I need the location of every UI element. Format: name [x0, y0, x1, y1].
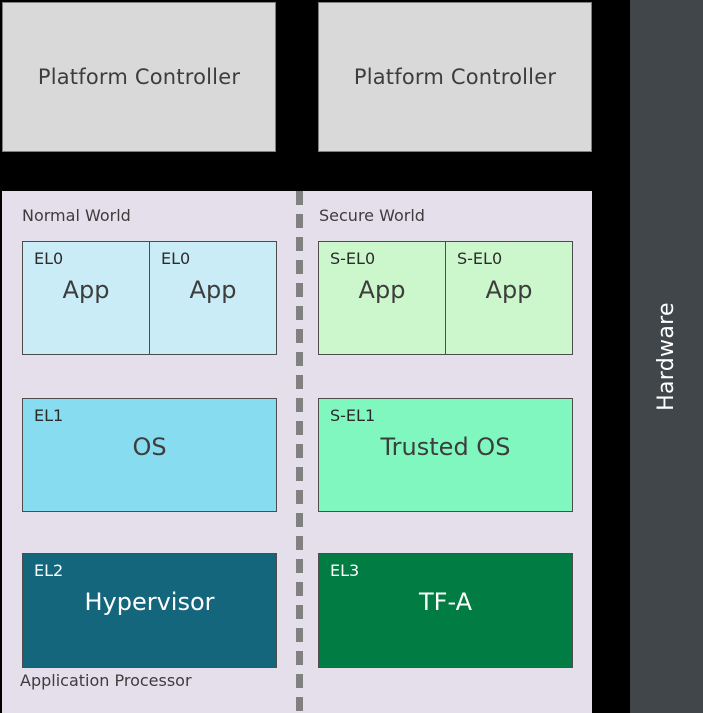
el-title: Hypervisor — [23, 588, 276, 616]
el-title: App — [23, 276, 149, 304]
el-box-el1-os: EL1 OS — [22, 398, 277, 512]
el-box-el3-tfa: EL3 TF-A — [318, 553, 573, 668]
el-title: TF-A — [319, 588, 572, 616]
el-title: App — [319, 276, 445, 304]
hardware-label: Hardware — [654, 302, 679, 411]
el-tag: EL0 — [161, 249, 190, 268]
platform-controller-box-2: Platform Controller — [318, 2, 592, 152]
el-title: App — [446, 276, 572, 304]
el-tag: EL3 — [330, 561, 359, 580]
el-tag: S-EL1 — [330, 406, 375, 425]
el-tag: EL1 — [34, 406, 63, 425]
el-box-sel0-app-secure-1: S-EL0 App — [318, 241, 446, 355]
el-box-el0-app-normal-1: EL0 App — [22, 241, 150, 355]
normal-world-label: Normal World — [22, 206, 131, 225]
application-processor-label: Application Processor — [20, 671, 192, 690]
el-tag: S-EL0 — [457, 249, 502, 268]
el-box-el2-hypervisor: EL2 Hypervisor — [22, 553, 277, 668]
el-title: OS — [23, 433, 276, 461]
el-tag: S-EL0 — [330, 249, 375, 268]
el-title: App — [150, 276, 276, 304]
el-box-el0-app-normal-2: EL0 App — [149, 241, 277, 355]
hardware-bar: Hardware — [630, 0, 703, 713]
application-processor-panel: Normal World Secure World EL0 App EL0 Ap… — [2, 191, 592, 713]
secure-world-label: Secure World — [319, 206, 425, 225]
architecture-diagram: Platform Controller Platform Controller … — [0, 0, 703, 713]
el-tag: EL0 — [34, 249, 63, 268]
platform-controller-box-1: Platform Controller — [2, 2, 276, 152]
platform-controller-label: Platform Controller — [38, 65, 240, 89]
el-box-sel0-app-secure-2: S-EL0 App — [445, 241, 573, 355]
platform-controller-label: Platform Controller — [354, 65, 556, 89]
world-divider — [296, 191, 303, 713]
el-tag: EL2 — [34, 561, 63, 580]
el-title: Trusted OS — [319, 433, 572, 461]
el-box-sel1-trusted-os: S-EL1 Trusted OS — [318, 398, 573, 512]
